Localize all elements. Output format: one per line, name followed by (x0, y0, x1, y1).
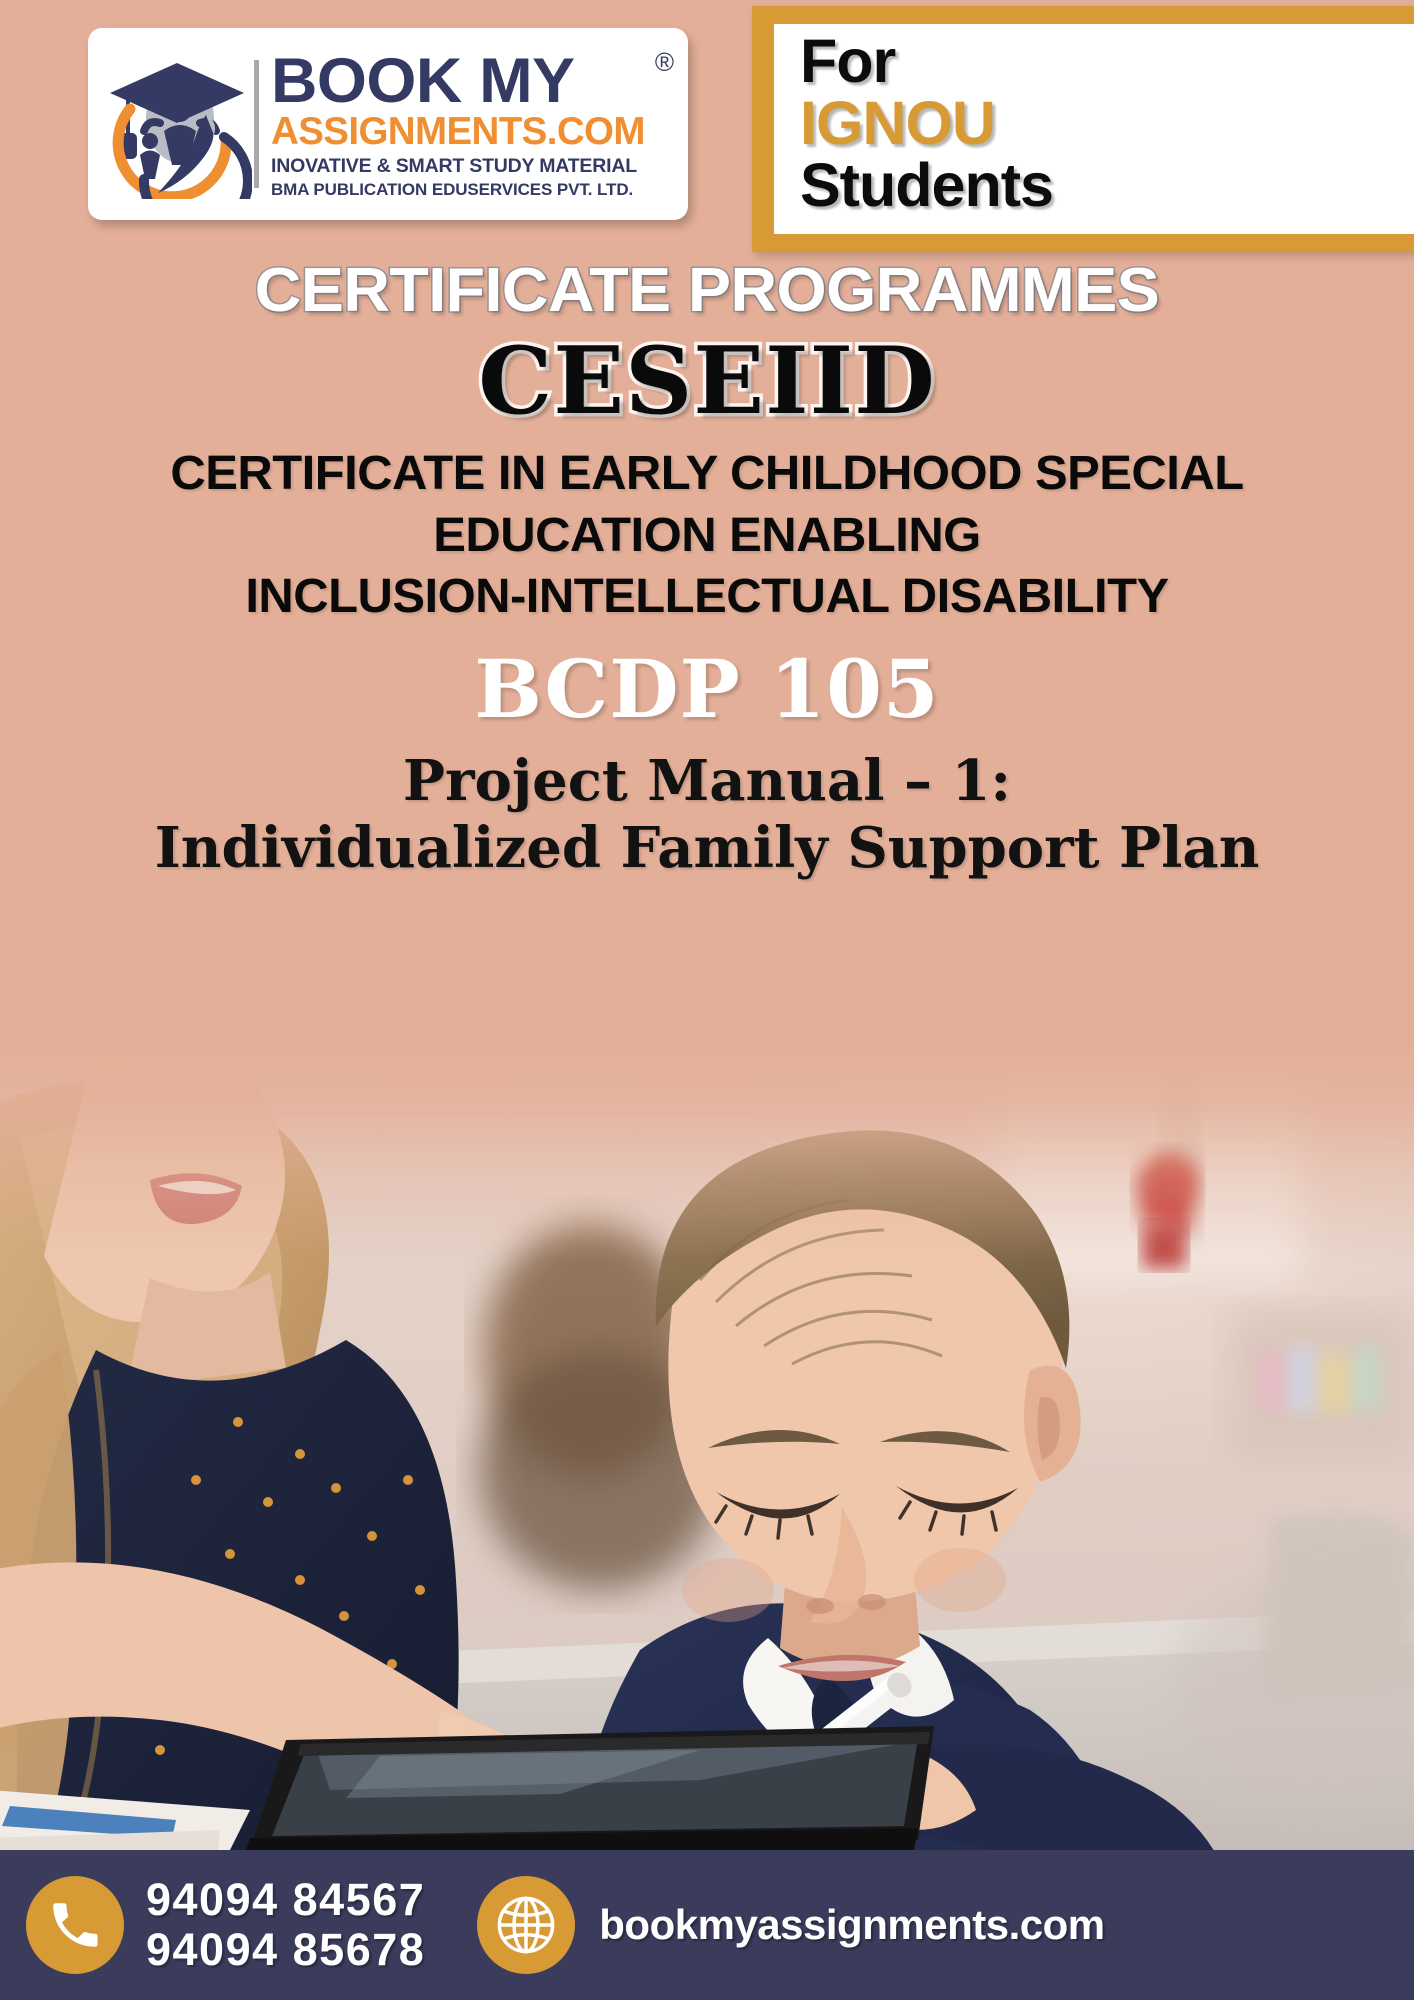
ignou-badge-inner: For IGNOU Students (774, 24, 1414, 234)
programme-type-heading: CERTIFICATE PROGRAMMES (0, 258, 1414, 323)
cover-photo (0, 1050, 1414, 1850)
title-block: CERTIFICATE PROGRAMMES CESEIID CERTIFICA… (0, 258, 1414, 882)
poster-cover: ® BOOK MY ASSIGNMENTS.COM INOVATIVE & SM… (0, 0, 1414, 2000)
globe-glyph (491, 1890, 561, 1960)
cover-photo-illustration (0, 1050, 1414, 1850)
ignou-badge-line-ignou: IGNOU (800, 92, 1414, 154)
logo-wordmark: ® BOOK MY ASSIGNMENTS.COM INOVATIVE & SM… (271, 49, 678, 199)
logo-tagline-secondary: BMA PUBLICATION EDUSERVICES PVT. LTD. (271, 180, 678, 200)
phone-glyph (46, 1896, 104, 1954)
logo-divider (254, 60, 259, 188)
globe-icon-wrap (477, 1876, 575, 1974)
programme-fullname-line-2: EDUCATION ENABLING (0, 505, 1414, 566)
programme-code-heading: CESEIID (0, 329, 1414, 433)
phone-numbers: 94094 84567 94094 85678 (146, 1875, 425, 1976)
ignou-badge: For IGNOU Students (752, 6, 1414, 252)
website-url: bookmyassignments.com (599, 1901, 1104, 1949)
programme-fullname-line-1: CERTIFICATE IN EARLY CHILDHOOD SPECIAL (0, 443, 1414, 504)
logo-tagline-primary: INOVATIVE & SMART STUDY MATERIAL (271, 155, 678, 177)
programme-fullname-line-3: INCLUSION-INTELLECTUAL DISABILITY (0, 566, 1414, 627)
globe-icon (477, 1876, 575, 1974)
course-code-heading: BCDP 105 (0, 642, 1414, 736)
phone-number-1: 94094 84567 (146, 1875, 425, 1925)
manual-title-line-1: Project Manual – 1: (0, 748, 1414, 815)
ignou-badge-line-for: For (800, 30, 1414, 92)
phone-number-2: 94094 85678 (146, 1925, 425, 1975)
manual-title-line-2: Individualized Family Support Plan (0, 815, 1414, 882)
graduation-cap-logo-icon (102, 49, 252, 199)
logo-line-assignments: ASSIGNMENTS.COM (271, 113, 678, 152)
contact-footer: 94094 84567 94094 85678 bookmyassignment… (0, 1850, 1414, 2000)
brand-logo-card: ® BOOK MY ASSIGNMENTS.COM INOVATIVE & SM… (88, 28, 688, 220)
phone-icon (26, 1876, 124, 1974)
ignou-badge-line-students: Students (800, 154, 1414, 216)
logo-line-book-my: BOOK MY (271, 53, 686, 111)
